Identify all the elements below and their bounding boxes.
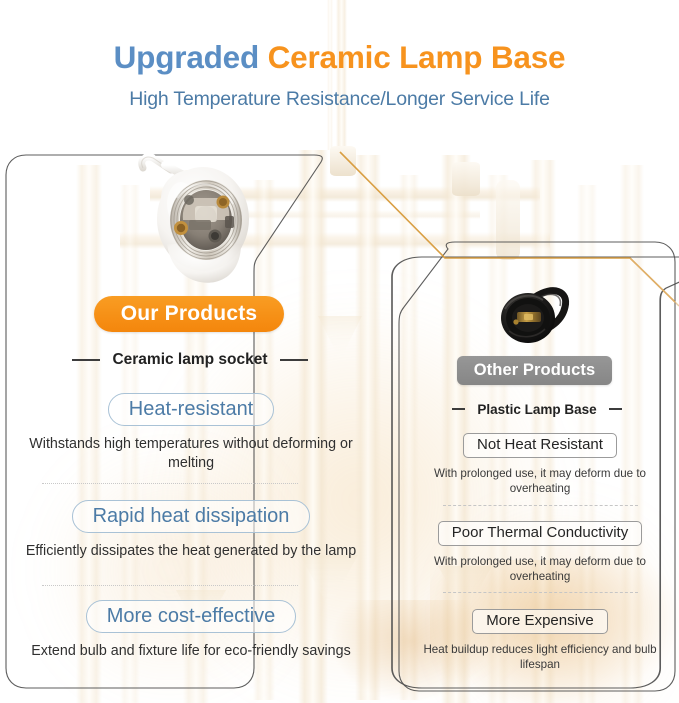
ceramic-socket-subhead: Ceramic lamp socket [64,350,316,370]
right-feature-3-description: Heat buildup reduces light efficiency an… [420,642,660,673]
ceramic-lamp-socket-photo [137,152,267,287]
header: Upgraded Ceramic Lamp Base High Temperat… [0,0,679,111]
right-feature-1-pill: Not Heat Resistant [463,433,617,458]
left-feature-1-description: Withstands high temperatures without def… [24,435,358,473]
left-feature-1: Heat-resistant Withstands high temperatu… [24,393,358,473]
left-divider-1 [42,483,298,484]
page-title: Upgraded Ceramic Lamp Base [0,0,679,75]
left-feature-1-pill: Heat-resistant [108,393,275,426]
left-feature-2: Rapid heat dissipation Efficiently dissi… [24,500,358,561]
plastic-base-subhead-label: Plastic Lamp Base [477,402,596,417]
right-feature-1-description: With prolonged use, it may deform due to… [420,466,660,497]
right-divider-1 [443,505,638,506]
page-subtitle: High Temperature Resistance/Longer Servi… [0,88,679,111]
right-feature-2-pill: Poor Thermal Conductivity [438,521,642,546]
left-feature-3-description: Extend bulb and fixture life for eco-fri… [24,642,358,661]
page-title-part-2: Ceramic Lamp Base [268,39,566,75]
page-title-part-1: Upgraded [114,39,259,75]
plastic-base-subhead: Plastic Lamp Base [452,400,622,418]
right-feature-1: Not Heat Resistant With prolonged use, i… [420,433,660,497]
dash-right [609,408,622,409]
dash-left [452,408,465,409]
right-feature-2: Poor Thermal Conductivity With prolonged… [420,521,660,585]
left-feature-3-pill: More cost-effective [86,600,297,633]
other-products-badge: Other Products [457,356,612,385]
left-feature-3: More cost-effective Extend bulb and fixt… [24,600,358,661]
left-divider-2 [42,585,298,586]
left-feature-2-description: Efficiently dissipates the heat generate… [24,542,358,561]
right-feature-3: More Expensive Heat buildup reduces ligh… [420,609,660,673]
our-products-badge: Our Products [94,296,284,332]
dash-left [72,359,100,361]
ceramic-socket-subhead-label: Ceramic lamp socket [112,351,267,369]
right-divider-2 [443,592,638,593]
right-feature-2-description: With prolonged use, it may deform due to… [420,554,660,585]
plastic-lamp-base-photo [491,285,573,347]
left-feature-2-pill: Rapid heat dissipation [72,500,311,533]
right-feature-3-pill: More Expensive [472,609,608,634]
dash-right [280,359,308,361]
